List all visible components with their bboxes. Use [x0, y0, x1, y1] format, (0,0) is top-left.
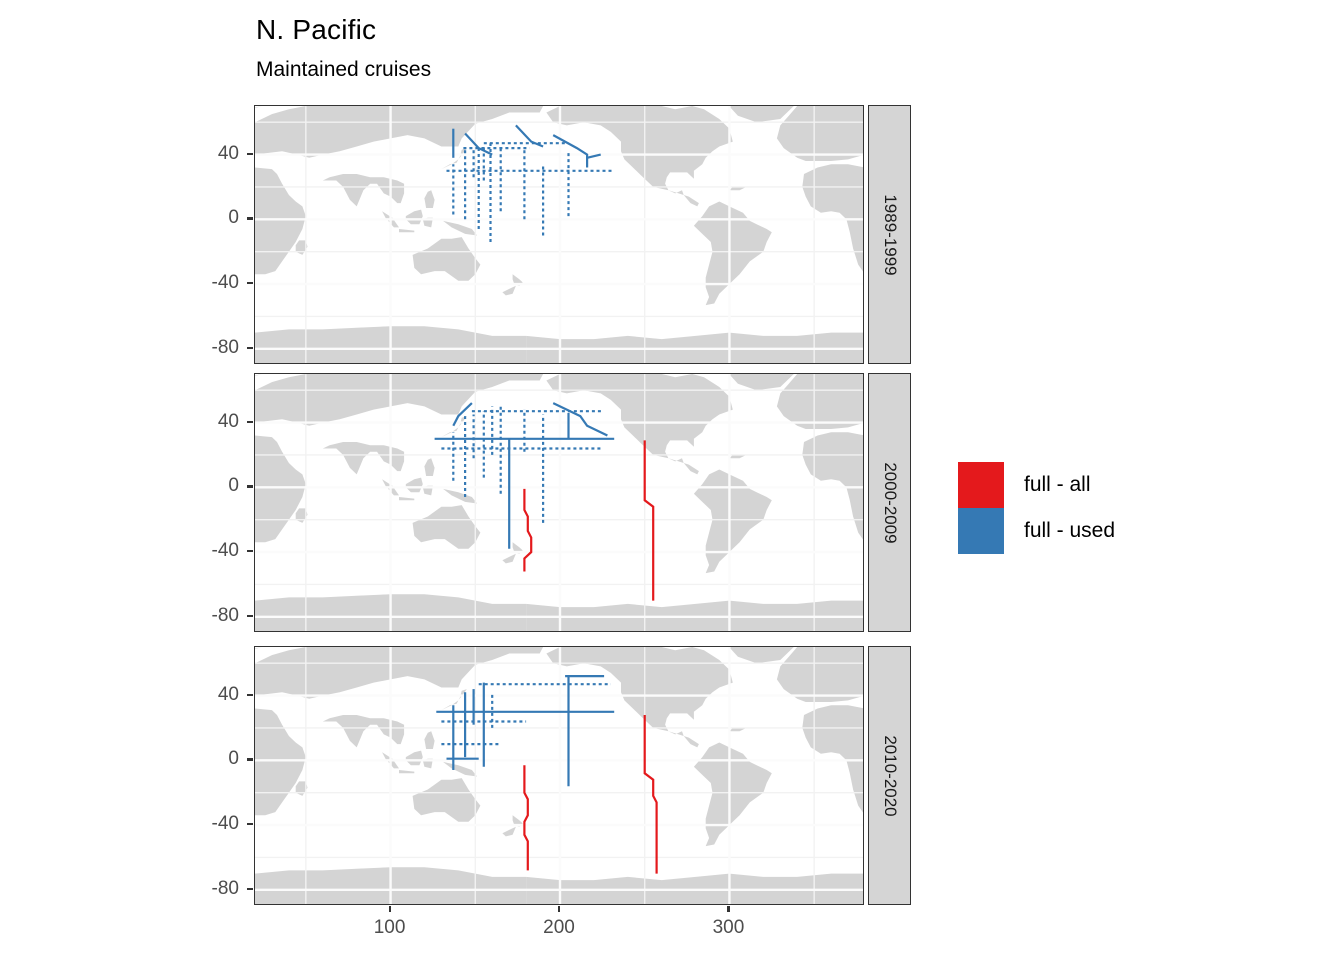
legend-item-label: full - used [1024, 519, 1115, 543]
facet-strip-label: 2000-2009 [880, 462, 900, 543]
map-canvas [255, 374, 864, 632]
page-subtitle: Maintained cruises [256, 58, 431, 82]
y-axis-tick-mark [247, 485, 253, 487]
y-axis-tick-label: -40 [179, 540, 239, 562]
map-panel [254, 105, 864, 364]
y-axis-tick-label: 40 [179, 411, 239, 433]
y-axis-tick-label: 40 [179, 143, 239, 165]
legend-item-label: full - all [1024, 473, 1091, 497]
y-axis-tick-label: -80 [179, 878, 239, 900]
x-axis-tick-mark [558, 906, 560, 912]
x-axis-tick-label: 300 [693, 917, 763, 939]
map-canvas [255, 647, 864, 905]
x-axis-tick-mark [727, 906, 729, 912]
y-axis-tick-label: 0 [179, 475, 239, 497]
y-axis-tick-mark [247, 615, 253, 617]
map-panel [254, 646, 864, 905]
y-axis-tick-label: -40 [179, 272, 239, 294]
y-axis-tick-mark [247, 421, 253, 423]
y-axis-tick-mark [247, 153, 253, 155]
y-axis-tick-mark [247, 217, 253, 219]
y-axis-tick-mark [247, 758, 253, 760]
legend-key-full-used [958, 508, 1004, 554]
legend-item: full - all [958, 462, 1115, 508]
y-axis-tick-label: -80 [179, 605, 239, 627]
y-axis-tick-label: 0 [179, 207, 239, 229]
y-axis-tick-mark [247, 282, 253, 284]
y-axis-tick-mark [247, 550, 253, 552]
x-axis-tick-mark [389, 906, 391, 912]
y-axis-tick-mark [247, 694, 253, 696]
figure-root: N. Pacific Maintained cruises 1989-19994… [0, 0, 1344, 960]
facet-strip: 2000-2009 [868, 373, 911, 632]
x-axis-tick-label: 100 [355, 917, 425, 939]
y-axis-tick-label: -40 [179, 813, 239, 835]
facet-strip-label: 2010-2020 [880, 735, 900, 816]
page-title: N. Pacific [256, 14, 376, 46]
facet-strip-label: 1989-1999 [880, 194, 900, 275]
map-panel [254, 373, 864, 632]
y-axis-tick-mark [247, 888, 253, 890]
legend-key-full-all [958, 462, 1004, 508]
y-axis-tick-mark [247, 347, 253, 349]
y-axis-tick-label: -80 [179, 337, 239, 359]
y-axis-tick-label: 40 [179, 684, 239, 706]
map-canvas [255, 106, 864, 364]
x-axis-tick-label: 200 [524, 917, 594, 939]
facet-strip: 2010-2020 [868, 646, 911, 905]
y-axis-tick-label: 0 [179, 748, 239, 770]
legend-item: full - used [958, 508, 1115, 554]
y-axis-tick-mark [247, 823, 253, 825]
legend: full - allfull - used [958, 462, 1115, 554]
facet-strip: 1989-1999 [868, 105, 911, 364]
